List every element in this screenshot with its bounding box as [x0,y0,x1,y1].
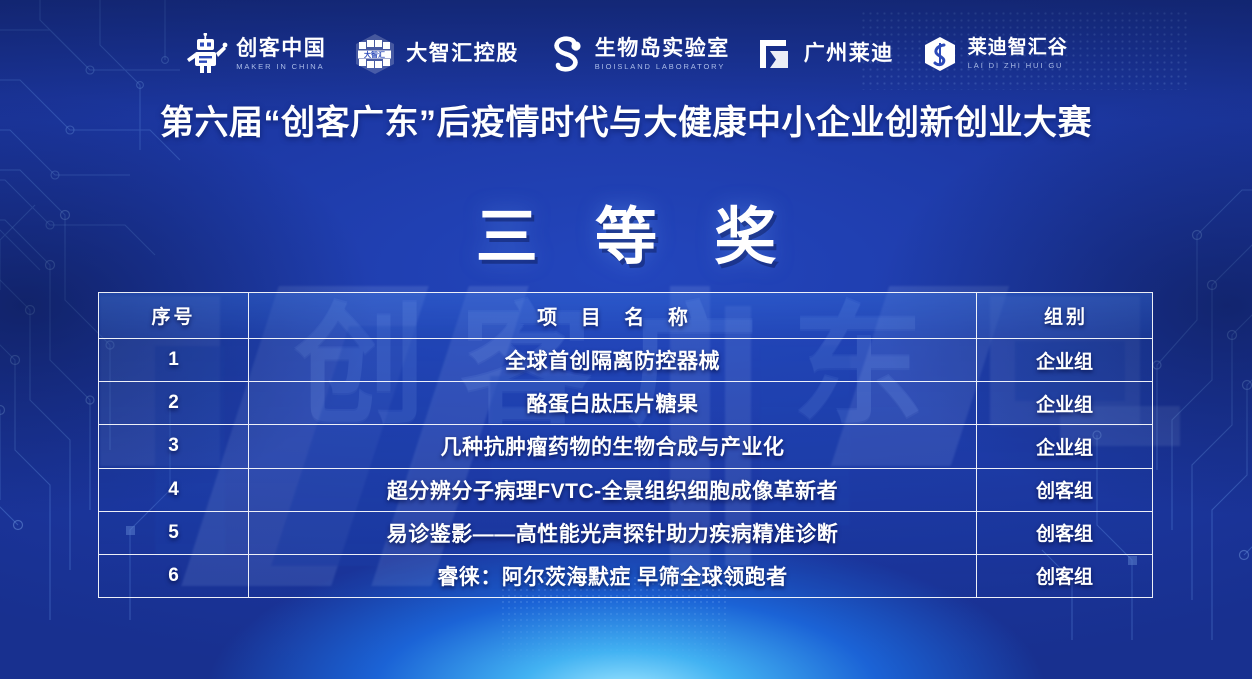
table-row: 6 睿徕：阿尔茨海默症 早筛全球领跑者 创客组 [99,555,1152,597]
biolab-icon [545,34,587,74]
cell-name: 全球首创隔离防控器械 [249,339,977,381]
cube-icon: 大智汇 [352,32,398,76]
award-title: 三 等 奖 [0,186,1252,276]
logo-label-cn: 生物岛实验室 [595,37,730,60]
table-header-row: 序号 项 目 名 称 组别 [99,293,1152,339]
cell-name: 易诊鉴影——高性能光声探针助力疾病精准诊断 [249,512,977,554]
logo-guangzhou-laidi: 广州莱迪 [756,30,894,78]
logo-dazhihui-holdings: 大智汇 大智汇控股 [352,30,519,78]
table-row: 1 全球首创隔离防控器械 企业组 [99,339,1152,382]
cell-group: 企业组 [977,382,1152,424]
robot-icon [184,33,228,75]
cell-group: 创客组 [977,469,1152,511]
cell-name: 睿徕：阿尔茨海默症 早筛全球领跑者 [249,555,977,597]
cell-no: 2 [99,382,249,424]
logo-label-cn: 广州莱迪 [804,42,894,65]
column-header-no: 序号 [99,293,249,338]
cell-no: 6 [99,555,249,597]
svg-text:大智汇: 大智汇 [364,50,385,59]
logo-label-en: BIOISLAND LABORATORY [595,62,730,71]
table-row: 5 易诊鉴影——高性能光声探针助力疾病精准诊断 创客组 [99,512,1152,555]
logo-label-cn: 大智汇控股 [406,42,519,65]
cell-name: 酪蛋白肽压片糖果 [249,382,977,424]
logo-label-en: LAI DI ZHI HUI GU [968,61,1068,70]
cell-group: 企业组 [977,339,1152,381]
cell-name: 超分辨分子病理FVTC-全景组织细胞成像革新者 [249,469,977,511]
event-headline: 第六届“创客广东”后疫情时代与大健康中小企业创新创业大赛 [0,95,1252,144]
cell-no: 5 [99,512,249,554]
presentation-slide: 创客广东 [0,0,1252,679]
table-row: 2 酪蛋白肽压片糖果 企业组 [99,382,1152,425]
logo-label-cn: 莱迪智汇谷 [968,38,1068,59]
sponsor-logo-bar: 创客中国 MAKER IN CHINA 大智汇 [0,24,1252,84]
column-header-group: 组别 [977,293,1152,338]
logo-laidi-zhihuigu: 莱迪智汇谷 LAI DI ZHI HUI GU [920,30,1068,78]
cell-group: 创客组 [977,555,1152,597]
table-row: 4 超分辨分子病理FVTC-全景组织细胞成像革新者 创客组 [99,469,1152,512]
cell-group: 企业组 [977,425,1152,467]
winners-table: 序号 项 目 名 称 组别 1 全球首创隔离防控器械 企业组 2 酪蛋白肽压片糖… [98,292,1153,598]
cell-no: 4 [99,469,249,511]
cell-group: 创客组 [977,512,1152,554]
logo-maker-in-china: 创客中国 MAKER IN CHINA [184,30,326,78]
cell-no: 3 [99,425,249,467]
table-row: 3 几种抗肿瘤药物的生物合成与产业化 企业组 [99,425,1152,468]
cell-no: 1 [99,339,249,381]
logo-label-en: MAKER IN CHINA [236,62,326,71]
book-corner-icon [756,34,796,74]
column-header-name: 项 目 名 称 [249,293,977,338]
hexagon-s-icon [920,34,960,74]
logo-label-cn: 创客中国 [236,37,326,60]
cell-name: 几种抗肿瘤药物的生物合成与产业化 [249,425,977,467]
logo-bioisland-laboratory: 生物岛实验室 BIOISLAND LABORATORY [545,30,730,78]
